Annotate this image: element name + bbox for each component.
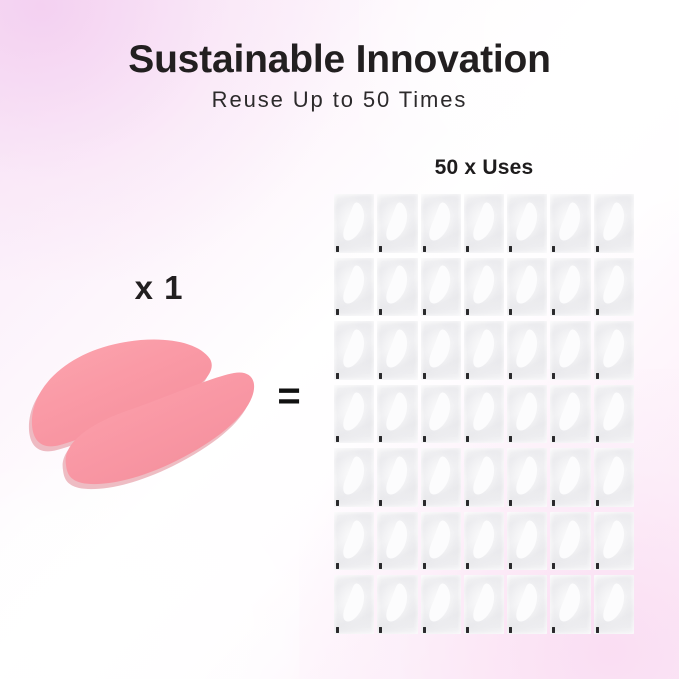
white-eye-patch-icon <box>599 517 630 564</box>
sachet-tear-notch <box>379 309 382 315</box>
sachet-cell <box>421 321 461 380</box>
sachet-tear-notch <box>379 500 382 506</box>
sachet-cell <box>594 575 634 634</box>
sachet-cell <box>334 448 374 507</box>
sachet-tear-notch <box>423 309 426 315</box>
white-eye-patch-icon <box>469 517 500 564</box>
sachet-tear-notch <box>596 563 599 569</box>
sachet-cell <box>377 321 417 380</box>
white-eye-patch-icon <box>599 199 630 246</box>
white-eye-patch-icon <box>469 199 500 246</box>
white-eye-patch-icon <box>512 517 543 564</box>
sachet-tear-notch <box>552 309 555 315</box>
white-eye-patch-icon <box>512 262 543 309</box>
sachet-tear-notch <box>423 563 426 569</box>
sachet-cell <box>550 194 590 253</box>
sachet-cell <box>594 385 634 444</box>
white-eye-patch-icon <box>599 453 630 500</box>
sachet-cell <box>507 575 547 634</box>
sachet-cell <box>464 575 504 634</box>
sachet-tear-notch <box>509 627 512 633</box>
white-eye-patch-icon <box>555 389 586 436</box>
sachet-tear-notch <box>423 500 426 506</box>
white-eye-patch-icon <box>339 580 370 627</box>
sachet-cell <box>334 194 374 253</box>
sachet-cell <box>334 258 374 317</box>
sachet-tear-notch <box>336 436 339 442</box>
sachet-tear-notch <box>423 246 426 252</box>
sachet-cell <box>377 575 417 634</box>
sachet-tear-notch <box>379 436 382 442</box>
white-eye-patch-icon <box>512 580 543 627</box>
sachet-cell <box>377 194 417 253</box>
sachet-tear-notch <box>509 436 512 442</box>
sachet-tear-notch <box>509 246 512 252</box>
grid-heading: 50 x Uses <box>334 155 634 181</box>
sachet-cell <box>421 194 461 253</box>
sachet-cell <box>550 575 590 634</box>
sachet-cell <box>334 512 374 571</box>
sachet-tear-notch <box>596 500 599 506</box>
white-eye-patch-icon <box>512 199 543 246</box>
sachet-tear-notch <box>466 309 469 315</box>
sachet-tear-notch <box>552 627 555 633</box>
white-eye-patch-icon <box>469 580 500 627</box>
sachet-tear-notch <box>423 373 426 379</box>
white-eye-patch-icon <box>512 389 543 436</box>
sachet-cell <box>507 258 547 317</box>
background-glow-bottom-left <box>0 469 300 679</box>
white-eye-patch-icon <box>339 517 370 564</box>
white-eye-patch-icon <box>425 262 456 309</box>
sachet-cell <box>334 385 374 444</box>
sachet-cell <box>550 321 590 380</box>
sachet-grid <box>334 194 634 634</box>
white-eye-patch-icon <box>339 262 370 309</box>
white-eye-patch-icon <box>555 453 586 500</box>
sachet-cell <box>464 448 504 507</box>
sachet-tear-notch <box>596 373 599 379</box>
sachet-cell <box>507 448 547 507</box>
sachet-tear-notch <box>552 500 555 506</box>
sachet-tear-notch <box>466 373 469 379</box>
pink-eye-patch-pair <box>20 315 260 500</box>
sachet-tear-notch <box>509 563 512 569</box>
sachet-tear-notch <box>466 436 469 442</box>
white-eye-patch-icon <box>382 199 413 246</box>
white-eye-patch-icon <box>425 580 456 627</box>
sachet-cell <box>464 512 504 571</box>
white-eye-patch-icon <box>555 517 586 564</box>
sachet-tear-notch <box>336 373 339 379</box>
sachet-cell <box>507 385 547 444</box>
sachet-tear-notch <box>466 627 469 633</box>
sachet-tear-notch <box>423 627 426 633</box>
sachet-tear-notch <box>596 627 599 633</box>
sachet-tear-notch <box>336 309 339 315</box>
sachet-cell <box>550 512 590 571</box>
sachet-cell <box>421 385 461 444</box>
sachet-tear-notch <box>596 309 599 315</box>
white-eye-patch-icon <box>382 580 413 627</box>
white-eye-patch-icon <box>339 326 370 373</box>
sachet-tear-notch <box>509 309 512 315</box>
sachet-cell <box>377 512 417 571</box>
sachet-tear-notch <box>466 563 469 569</box>
white-eye-patch-icon <box>512 326 543 373</box>
sachet-tear-notch <box>336 246 339 252</box>
sachet-tear-notch <box>379 373 382 379</box>
sachet-tear-notch <box>552 563 555 569</box>
white-eye-patch-icon <box>382 326 413 373</box>
sachet-cell <box>594 321 634 380</box>
white-eye-patch-icon <box>425 453 456 500</box>
single-unit-count-label: x 1 <box>104 269 214 307</box>
white-eye-patch-icon <box>382 517 413 564</box>
sachet-cell <box>507 512 547 571</box>
sachet-cell <box>421 575 461 634</box>
sachet-tear-notch <box>379 627 382 633</box>
sachet-cell <box>464 385 504 444</box>
sachet-tear-notch <box>596 436 599 442</box>
sachet-tear-notch <box>552 373 555 379</box>
sachet-cell <box>594 194 634 253</box>
sachet-cell <box>421 258 461 317</box>
white-eye-patch-icon <box>599 580 630 627</box>
sachet-tear-notch <box>466 500 469 506</box>
sachet-cell <box>550 258 590 317</box>
sachet-tear-notch <box>423 436 426 442</box>
sachet-tear-notch <box>466 246 469 252</box>
sachet-tear-notch <box>336 627 339 633</box>
white-eye-patch-icon <box>555 326 586 373</box>
page-subtitle: Reuse Up to 50 Times <box>0 86 679 114</box>
sachet-tear-notch <box>379 563 382 569</box>
sachet-cell <box>594 512 634 571</box>
sachet-cell <box>377 258 417 317</box>
white-eye-patch-icon <box>599 389 630 436</box>
white-eye-patch-icon <box>469 326 500 373</box>
equals-icon: = <box>268 376 310 416</box>
sachet-cell <box>507 194 547 253</box>
sachet-tear-notch <box>509 373 512 379</box>
sachet-tear-notch <box>596 246 599 252</box>
sachet-cell <box>594 448 634 507</box>
sachet-cell <box>550 385 590 444</box>
white-eye-patch-icon <box>469 453 500 500</box>
white-eye-patch-icon <box>382 389 413 436</box>
white-eye-patch-icon <box>382 262 413 309</box>
sachet-tear-notch <box>509 500 512 506</box>
white-eye-patch-icon <box>425 199 456 246</box>
sachet-tear-notch <box>552 246 555 252</box>
sachet-tear-notch <box>336 563 339 569</box>
sachet-cell <box>594 258 634 317</box>
sachet-cell <box>464 321 504 380</box>
white-eye-patch-icon <box>469 262 500 309</box>
sachet-tear-notch <box>336 500 339 506</box>
white-eye-patch-icon <box>555 580 586 627</box>
white-eye-patch-icon <box>469 389 500 436</box>
sachet-tear-notch <box>552 436 555 442</box>
sachet-cell <box>377 385 417 444</box>
white-eye-patch-icon <box>339 389 370 436</box>
sustainable-innovation-poster: Sustainable Innovation Reuse Up to 50 Ti… <box>0 0 679 679</box>
sachet-cell <box>334 575 374 634</box>
sachet-tear-notch <box>379 246 382 252</box>
white-eye-patch-icon <box>425 389 456 436</box>
sachet-cell <box>334 321 374 380</box>
white-eye-patch-icon <box>599 326 630 373</box>
pink-patches-illustration <box>20 315 260 500</box>
white-eye-patch-icon <box>339 199 370 246</box>
sachet-cell <box>464 194 504 253</box>
sachet-cell <box>550 448 590 507</box>
sachet-cell <box>507 321 547 380</box>
white-eye-patch-icon <box>555 262 586 309</box>
sachet-cell <box>377 448 417 507</box>
white-eye-patch-icon <box>512 453 543 500</box>
sachet-cell <box>421 448 461 507</box>
white-eye-patch-icon <box>425 517 456 564</box>
white-eye-patch-icon <box>425 326 456 373</box>
sachet-cell <box>464 258 504 317</box>
white-eye-patch-icon <box>599 262 630 309</box>
sachet-cell <box>421 512 461 571</box>
white-eye-patch-icon <box>382 453 413 500</box>
white-eye-patch-icon <box>555 199 586 246</box>
white-eye-patch-icon <box>339 453 370 500</box>
page-title: Sustainable Innovation <box>0 38 679 82</box>
